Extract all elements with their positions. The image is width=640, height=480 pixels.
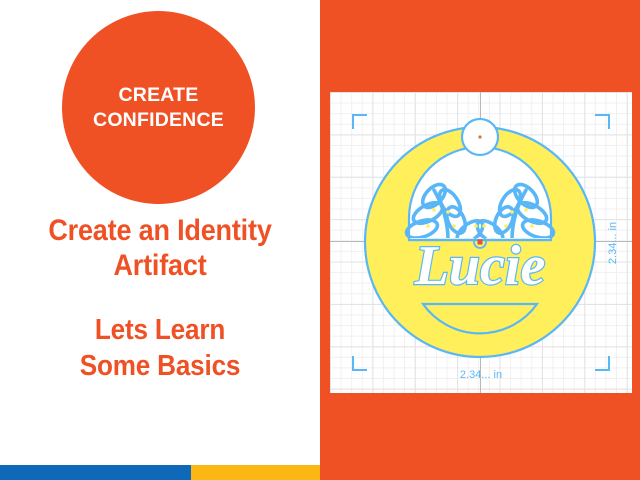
bottom-bar-yellow-segment: [191, 465, 320, 480]
height-dimension-label: 2.34... in: [607, 221, 619, 263]
design-canvas[interactable]: Lucie 2.34... in 2.34... in: [330, 92, 632, 393]
pendant-design[interactable]: Lucie: [330, 92, 632, 393]
left-panel: CREATE CONFIDENCE Create an Identity Art…: [0, 0, 320, 480]
subheadline-line-2: Some Basics: [16, 348, 304, 384]
bottom-accent-bar: [0, 465, 320, 480]
headline-block: Create an Identity Artifact: [0, 213, 320, 283]
slide-canvas: CREATE CONFIDENCE Create an Identity Art…: [0, 0, 640, 480]
badge-text: CREATE CONFIDENCE: [93, 83, 224, 133]
right-panel: Lucie 2.34... in 2.34... in: [320, 0, 640, 480]
hanging-hole-center-dot: [478, 135, 481, 138]
badge-line-1: CREATE: [93, 83, 224, 108]
width-dimension-label: 2.34... in: [460, 369, 502, 381]
create-confidence-badge: CREATE CONFIDENCE: [62, 11, 255, 204]
subheadline-block: Lets Learn Some Basics: [0, 312, 320, 385]
pendant-name-text[interactable]: Lucie: [414, 235, 546, 297]
badge-line-2: CONFIDENCE: [93, 108, 224, 133]
bottom-bar-blue-segment: [0, 465, 191, 480]
headline-line-2: Artifact: [16, 248, 304, 283]
subheadline-line-1: Lets Learn: [16, 312, 304, 348]
headline-line-1: Create an Identity: [16, 213, 304, 248]
